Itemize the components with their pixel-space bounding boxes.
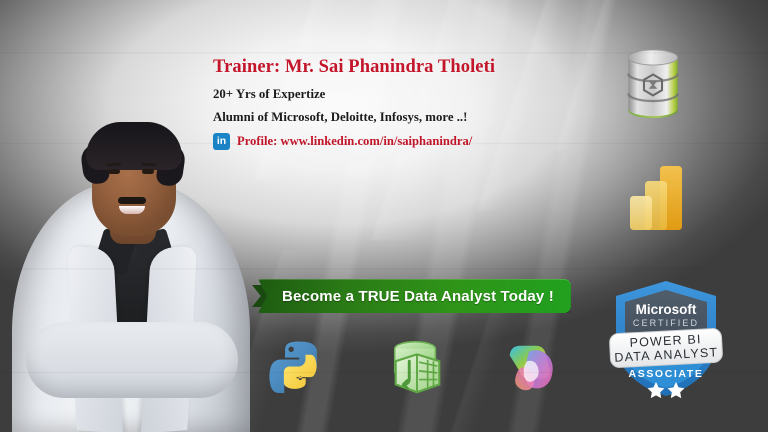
trainer-info-block: Trainer: Mr. Sai Phanindra Tholeti 20+ Y…: [213, 57, 543, 150]
trainer-experience: 20+ Yrs of Expertize: [213, 87, 543, 102]
microsoft-certification-badge: Microsoft CERTIFIED POWER BI DATA ANALYS…: [604, 276, 728, 400]
microsoft-copilot-icon: [500, 336, 562, 398]
tool-icons-row: [268, 336, 568, 404]
database-icon: [624, 48, 682, 120]
presenter-folded-arms: [26, 322, 238, 398]
presenter-eye-left: [108, 169, 120, 174]
promo-banner: Trainer: Mr. Sai Phanindra Tholeti 20+ Y…: [0, 0, 768, 432]
trainer-alumni: Alumni of Microsoft, Deloitte, Infosys, …: [213, 110, 543, 125]
linkedin-profile-url[interactable]: Profile: www.linkedin.com/in/saiphanindr…: [237, 134, 472, 149]
power-query-icon: [386, 336, 448, 398]
presenter-mouth: [119, 206, 145, 214]
linkedin-profile-row[interactable]: in Profile: www.linkedin.com/in/saiphani…: [213, 133, 543, 150]
linkedin-icon[interactable]: in: [213, 133, 230, 150]
badge-brand: Microsoft: [636, 302, 697, 317]
cta-ribbon[interactable]: Become a TRUE Data Analyst Today !: [258, 279, 571, 313]
cta-label: Become a TRUE Data Analyst Today !: [282, 288, 554, 305]
diagonal-streak-4: [556, 0, 628, 150]
presenter-moustache: [118, 197, 146, 204]
power-bi-icon: [628, 165, 684, 231]
trainer-name: Trainer: Mr. Sai Phanindra Tholeti: [213, 57, 543, 78]
python-icon: [268, 336, 330, 398]
presenter-hair-top: [86, 122, 182, 170]
badge-level: ASSOCIATE: [629, 368, 704, 380]
cta-button[interactable]: Become a TRUE Data Analyst Today !: [258, 279, 571, 313]
badge-certified: CERTIFIED: [633, 318, 699, 328]
presenter-eye-right: [142, 169, 154, 174]
